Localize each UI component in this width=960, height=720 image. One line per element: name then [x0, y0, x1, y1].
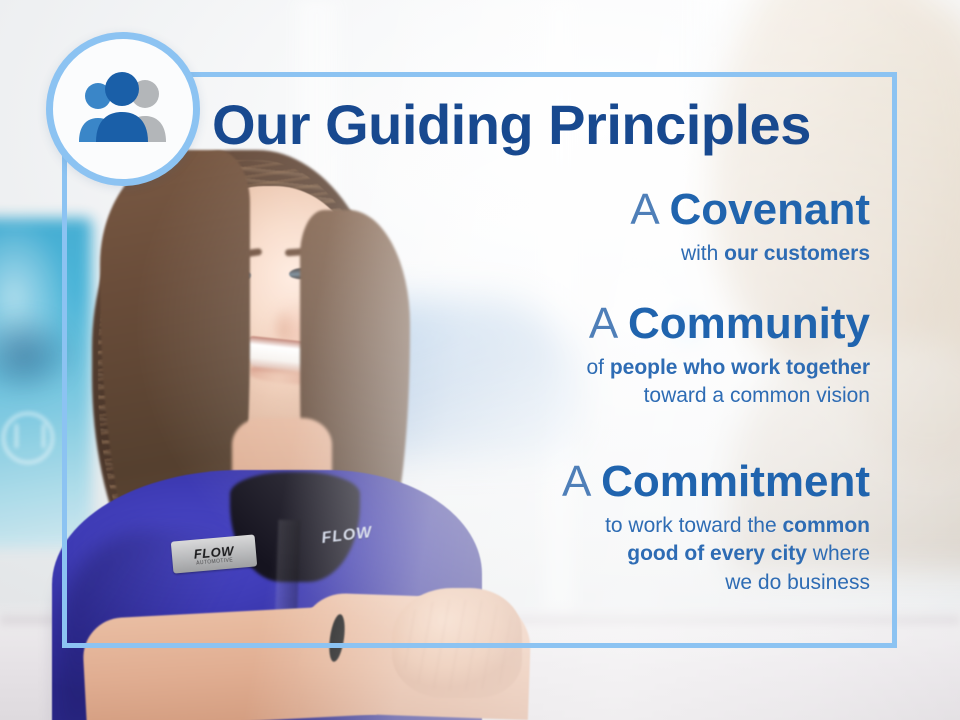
guiding-principles-banner: FLOW AUTOMOTIVE FLOW — [0, 0, 960, 720]
subtext-regular: with — [681, 242, 724, 265]
people-group-badge — [46, 32, 200, 186]
principle-lead: A — [589, 299, 628, 348]
people-group-icon — [71, 72, 175, 146]
principle-heading: A Covenant — [300, 186, 870, 234]
principle-subtext: of with our customers — [300, 240, 870, 269]
principle-subtext: to work toward the common good of every … — [300, 512, 870, 598]
subtext-line: good of every city where — [300, 540, 870, 569]
page-title: Our Guiding Principles — [212, 96, 872, 155]
principle-community: A Community of people who work together … — [300, 300, 870, 411]
principle-word: Covenant — [670, 185, 870, 234]
subtext-line: toward a common vision — [300, 382, 870, 411]
principle-word: Commitment — [601, 457, 870, 506]
subtext-bold: good of every city — [627, 542, 807, 565]
subtext-line: of people who work together — [300, 354, 870, 383]
principle-lead: A — [562, 457, 601, 506]
subtext-line: to work toward the common — [300, 512, 870, 541]
subtext-bold: people who work together — [610, 356, 870, 379]
subtext-regular: where — [807, 542, 870, 565]
principle-word: Community — [628, 299, 870, 348]
subtext-bold: our customers — [724, 242, 870, 265]
principle-covenant: A Covenant of with our customers — [300, 186, 870, 268]
subtext-regular: of — [586, 356, 609, 379]
subtext-line: we do business — [300, 569, 870, 598]
subtext-bold: common — [782, 514, 870, 537]
principle-subtext: of people who work together toward a com… — [300, 354, 870, 411]
subtext-regular: to work toward the — [605, 514, 782, 537]
principle-heading: A Community — [300, 300, 870, 348]
principle-heading: A Commitment — [300, 458, 870, 506]
principle-commitment: A Commitment to work toward the common g… — [300, 458, 870, 597]
principle-lead: A — [630, 185, 669, 234]
